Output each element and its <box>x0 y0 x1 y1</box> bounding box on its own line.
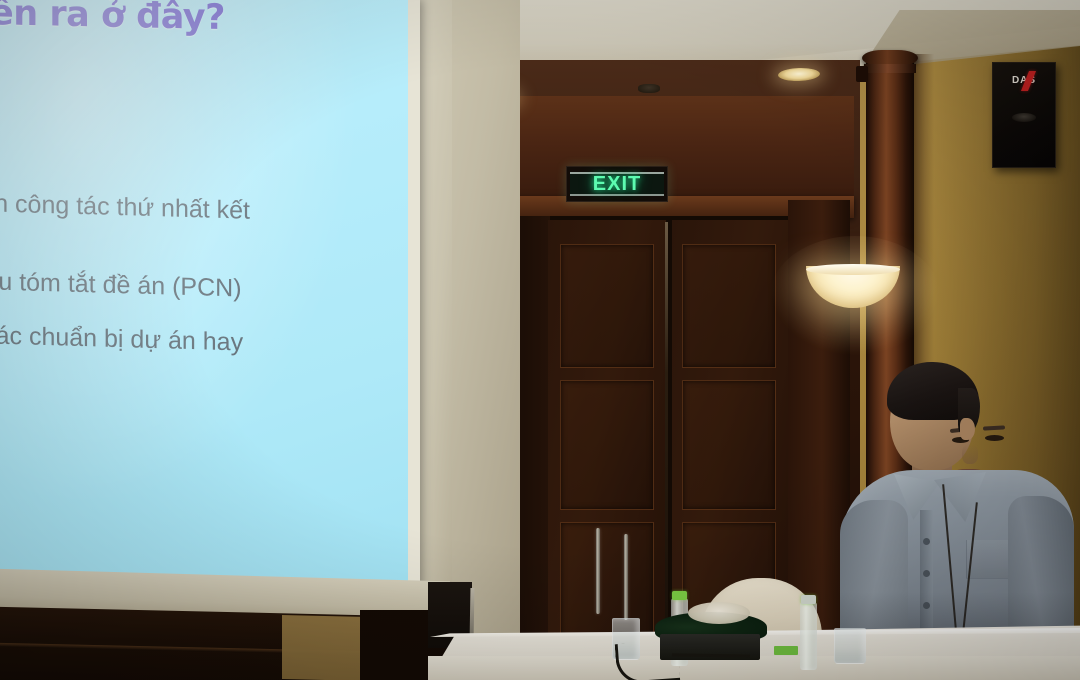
water-bottle-cap <box>801 595 816 604</box>
column-bracket <box>856 66 868 82</box>
conference-room-photo: EXIT DAS diễn ra ở đây? huyến công tác t… <box>0 0 1080 680</box>
door-panel <box>560 244 654 368</box>
door-handle-left[interactable] <box>596 528 600 614</box>
presenter-shirt-button <box>923 602 930 609</box>
door-handle-right[interactable] <box>624 534 628 620</box>
door-panel <box>560 380 654 510</box>
floral-centerpiece-flower <box>688 602 750 624</box>
exit-sign-plate: EXIT <box>570 172 664 196</box>
exit-sign-label: EXIT <box>593 173 641 196</box>
door-center-gap <box>665 222 668 654</box>
presenter-nose <box>962 444 978 464</box>
slide-line: ông tác chuẩn bị dự án hay <box>0 320 408 361</box>
audio-cable <box>615 640 681 680</box>
slide-line: huyến công tác thứ nhất kết <box>0 188 408 229</box>
door-panel <box>682 244 776 368</box>
name-card <box>774 646 798 655</box>
door-panel <box>682 380 776 510</box>
slide-body: huyến công tác thứ nhất kết D) tài liệu … <box>0 188 408 363</box>
presenter-shirt-button <box>923 570 930 577</box>
water-bottle-cap <box>672 591 687 600</box>
column-collar <box>864 64 916 73</box>
water-bottle[interactable] <box>800 602 817 670</box>
water-glass[interactable] <box>834 628 866 664</box>
presenter-eye <box>985 435 1004 441</box>
presenter-eyebrow <box>983 425 1005 430</box>
presenter-ear <box>960 418 975 440</box>
projection-screen: diễn ra ở đây? huyến công tác thứ nhất k… <box>0 0 408 586</box>
wall-speaker: DAS <box>992 62 1056 168</box>
presenter-shirt-button <box>923 538 930 545</box>
door-leaf-left[interactable] <box>548 220 666 656</box>
speaker-driver-icon <box>1012 113 1036 122</box>
exit-sign: EXIT <box>566 166 668 202</box>
wall-tan-panel <box>282 615 368 680</box>
slide-title: diễn ra ở đây? <box>0 0 225 38</box>
wall-sconce-rim <box>806 264 900 275</box>
ceiling-fixture <box>638 84 660 93</box>
